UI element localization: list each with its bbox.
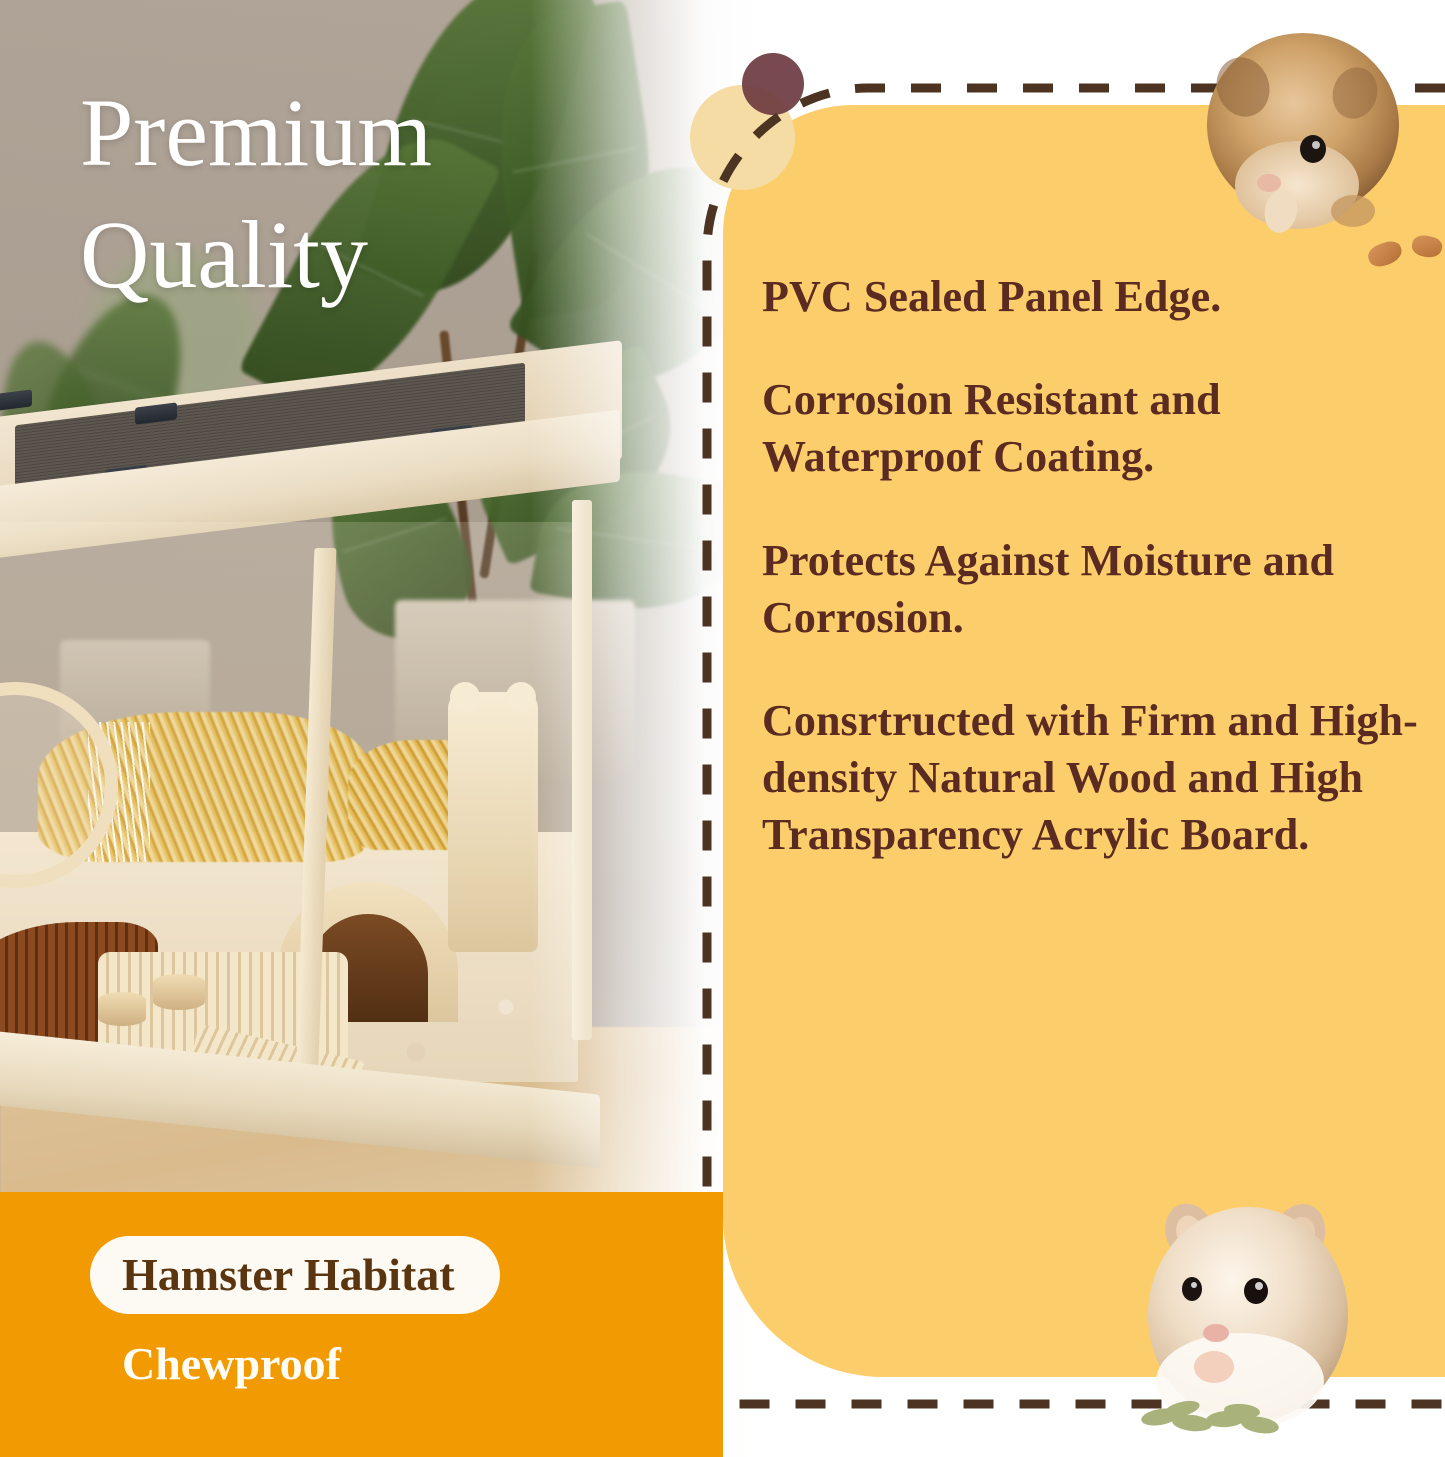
water-bottle-holder [448, 692, 538, 952]
decorative-circle-maroon-icon [742, 53, 804, 115]
badge-secondary-label: Chewproof [122, 1337, 341, 1390]
feature-list: PVC Sealed Panel Edge. Corrosion Resista… [762, 268, 1422, 864]
page-title: Premium Quality [80, 72, 700, 316]
cage-hinge [0, 389, 32, 411]
hamster-photo-bottom [1130, 1185, 1365, 1435]
feature-item: Consrtructed with Firm and High-density … [762, 692, 1422, 864]
product-infographic: Premium Quality PVC Sealed Panel Edge. C… [0, 0, 1445, 1457]
badge-primary-label: Hamster Habitat [122, 1249, 642, 1301]
cage-interior [0, 522, 578, 1082]
feature-item: Protects Against Moisture and Corrosion. [762, 532, 1422, 646]
bottom-orange-band [0, 1192, 723, 1457]
wood-stump [153, 974, 205, 1010]
title-line-2: Quality [80, 194, 700, 316]
feature-item: Corrosion Resistant and Waterproof Coati… [762, 371, 1422, 485]
hamster-photo-top [1185, 15, 1420, 250]
bear-ear-decoration [450, 682, 536, 716]
feature-item: PVC Sealed Panel Edge. [762, 268, 1422, 325]
wood-stump [98, 992, 146, 1026]
title-line-1: Premium [80, 72, 700, 194]
